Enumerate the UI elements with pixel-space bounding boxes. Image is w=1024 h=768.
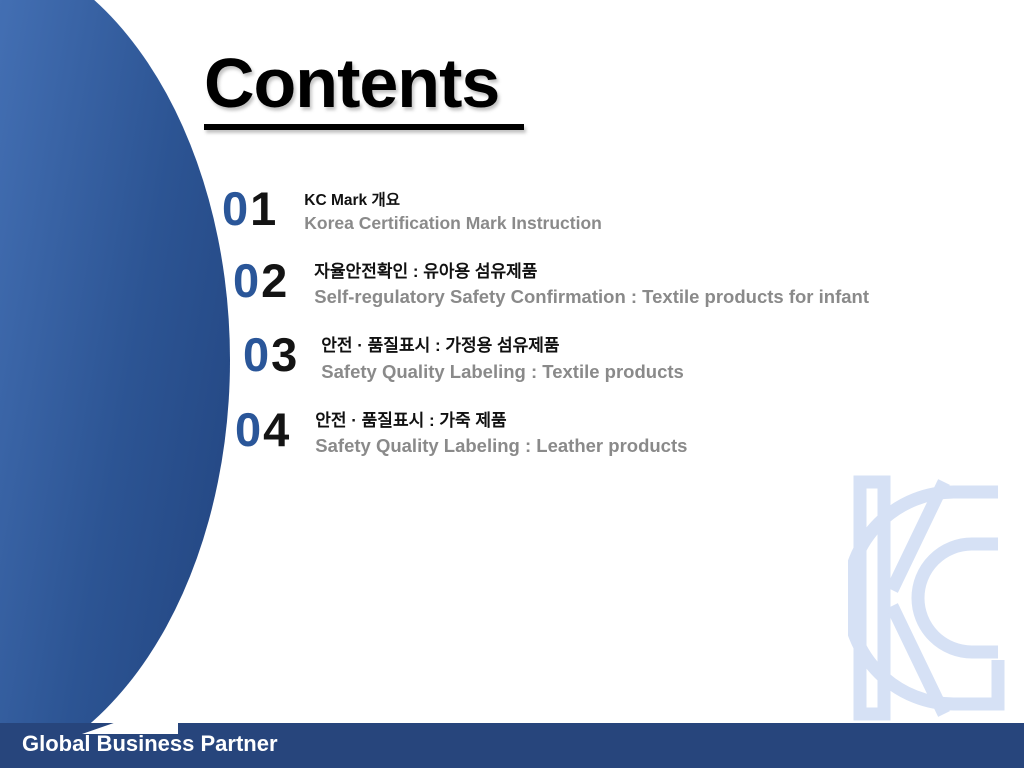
item-subtitle: Safety Quality Labeling : Textile produc… <box>321 360 684 384</box>
item-subtitle: Korea Certification Mark Instruction <box>304 212 602 235</box>
title-underline-rule <box>204 124 524 130</box>
list-item[interactable]: 01 KC Mark 개요 Korea Certification Mark I… <box>222 183 1024 235</box>
item-number: 04 <box>235 406 291 453</box>
list-item[interactable]: 02 자율안전확인 : 유아용 섬유제품 Self-regulatory Saf… <box>233 255 1024 309</box>
kc-mark-logo-watermark <box>848 474 1012 722</box>
item-subtitle: Safety Quality Labeling : Leather produc… <box>315 434 687 458</box>
item-title: KC Mark 개요 <box>304 191 602 210</box>
item-number-second-digit: 3 <box>271 328 299 381</box>
item-text-block: KC Mark 개요 Korea Certification Mark Inst… <box>304 191 602 235</box>
item-number-first-digit: 0 <box>235 403 263 456</box>
title-block: Contents <box>204 48 524 130</box>
footer-tagline: Global Business Partner <box>22 731 278 757</box>
item-number-first-digit: 0 <box>222 182 250 235</box>
contents-list: 01 KC Mark 개요 Korea Certification Mark I… <box>0 183 1024 478</box>
page-title: Contents <box>204 48 524 118</box>
item-number: 03 <box>243 331 299 378</box>
item-number: 02 <box>233 257 289 304</box>
item-number-second-digit: 4 <box>263 403 291 456</box>
item-title: 자율안전확인 : 유아용 섬유제품 <box>314 261 869 282</box>
item-text-block: 안전 · 품질표시 : 가정용 섬유제품 Safety Quality Labe… <box>321 335 684 383</box>
item-number-second-digit: 1 <box>250 182 278 235</box>
item-number-first-digit: 0 <box>243 328 271 381</box>
list-item[interactable]: 04 안전 · 품질표시 : 가죽 제품 Safety Quality Labe… <box>235 404 1024 458</box>
item-number-second-digit: 2 <box>261 254 289 307</box>
item-title: 안전 · 품질표시 : 가정용 섬유제품 <box>321 335 684 356</box>
item-number: 01 <box>222 185 278 232</box>
item-number-first-digit: 0 <box>233 254 261 307</box>
item-text-block: 안전 · 품질표시 : 가죽 제품 Safety Quality Labelin… <box>315 410 687 458</box>
item-subtitle: Self-regulatory Safety Confirmation : Te… <box>314 285 869 309</box>
presentation-slide: Contents 01 KC Mark 개요 Korea Certificati… <box>0 0 1024 768</box>
item-title: 안전 · 품질표시 : 가죽 제품 <box>315 410 687 431</box>
list-item[interactable]: 03 안전 · 품질표시 : 가정용 섬유제품 Safety Quality L… <box>243 329 1024 383</box>
footer-bar: Global Business Partner <box>0 723 1024 768</box>
item-text-block: 자율안전확인 : 유아용 섬유제품 Self-regulatory Safety… <box>314 261 869 309</box>
